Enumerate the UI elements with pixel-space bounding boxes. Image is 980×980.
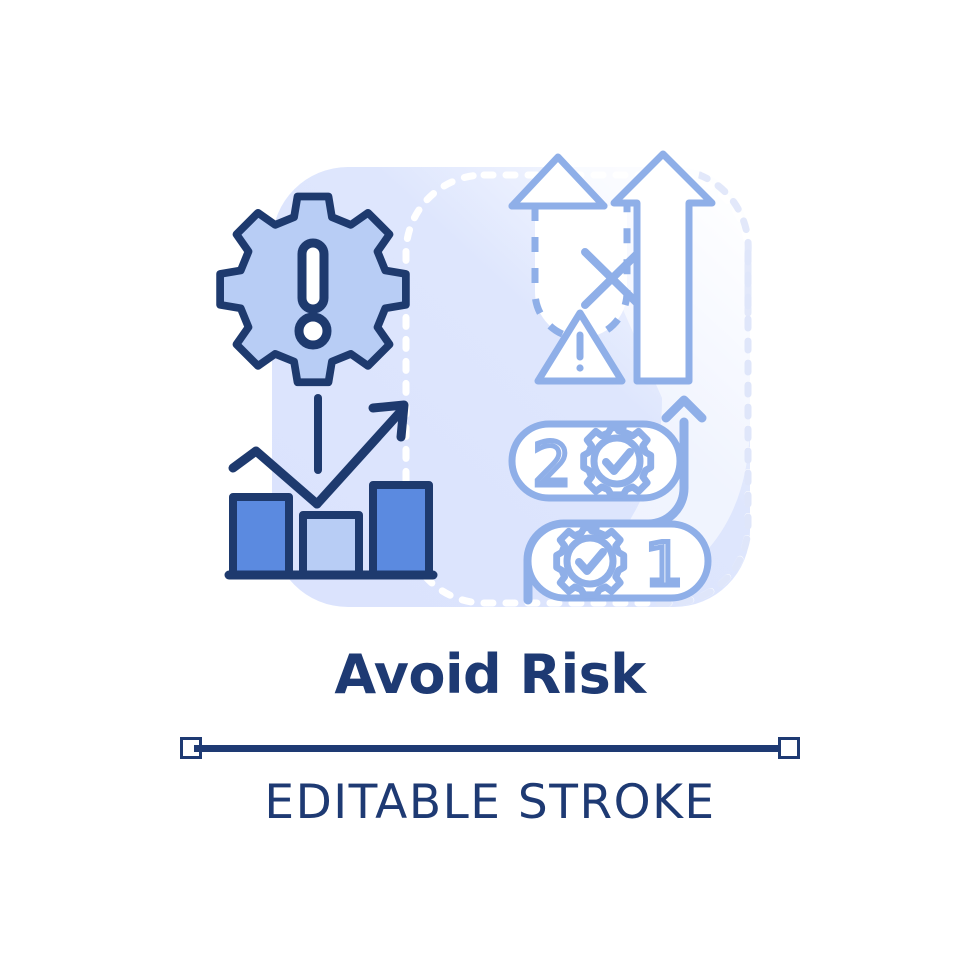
bar-3 — [373, 485, 429, 575]
editable-stroke-widget — [180, 728, 800, 768]
concept-title: Avoid Risk — [0, 645, 980, 704]
gear-exclamation-icon — [220, 196, 406, 382]
editable-stroke-label: EDITABLE STROKE — [0, 775, 980, 830]
gear-check-icon-2 — [584, 428, 651, 495]
gear-check-icon-1 — [557, 528, 624, 595]
step-pill-1: 1 — [528, 524, 708, 600]
bar-2 — [303, 515, 359, 575]
step-pill-2-number: 2 — [533, 430, 571, 500]
avoid-risk-illustration: 2 1 — [0, 0, 980, 980]
step-pill-1-number: 1 — [645, 530, 683, 600]
step-pill-2: 2 — [512, 424, 680, 500]
editable-stroke-widget-row — [0, 728, 980, 768]
exclamation-dot — [299, 317, 327, 345]
illustration-canvas: 2 1 — [0, 0, 980, 980]
exclamation-bar — [302, 243, 324, 309]
bar-1 — [233, 497, 289, 575]
caption-block: Avoid Risk — [0, 645, 980, 704]
stroke-handle-right[interactable] — [778, 737, 800, 759]
stroke-line — [194, 745, 786, 752]
